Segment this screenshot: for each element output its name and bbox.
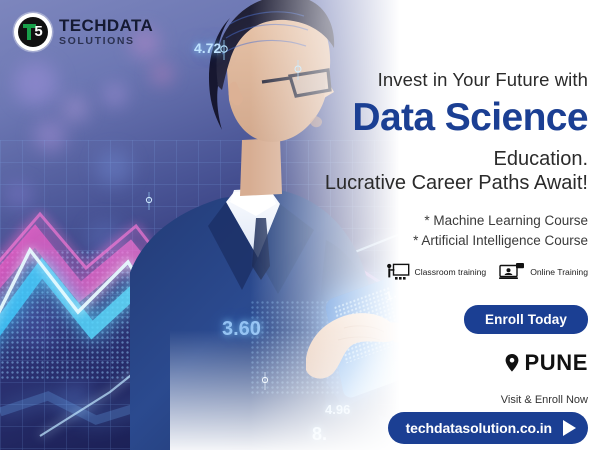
training-mode-online: Online Training	[499, 263, 588, 281]
logo-tagline: SOLUTIONS	[59, 36, 153, 47]
location-block: PUNE	[505, 350, 588, 376]
page-title: Data Science	[352, 98, 588, 137]
website-button[interactable]: techdatasolution.co.in	[388, 412, 588, 444]
logo-mark: 5	[18, 17, 48, 47]
logo-t-stem	[27, 24, 31, 40]
subtitle-line-1: Education.	[493, 148, 588, 170]
training-modes: Classroom training Online Training	[386, 263, 588, 281]
logo-name: TECHDATA	[59, 17, 153, 34]
subtitle-line-2: Lucrative Career Paths Await!	[325, 172, 588, 194]
crosshair-marker	[142, 192, 156, 210]
course-item: * Artificial Intelligence Course	[413, 231, 588, 251]
brand-logo[interactable]: 5 TECHDATA SOLUTIONS	[14, 13, 153, 51]
map-pin-icon	[505, 354, 519, 372]
promo-banner: 1.1 2.6 53 4.72 3.60 4.96 8.	[0, 0, 600, 450]
kicker-text: Invest in Your Future with	[378, 70, 588, 90]
course-list: * Machine Learning Course * Artificial I…	[413, 211, 588, 250]
visit-label: Visit & Enroll Now	[501, 394, 588, 406]
website-url: techdatasolution.co.in	[406, 420, 552, 436]
content-column: Invest in Your Future with Data Science …	[288, 0, 588, 450]
floating-number: 4.72	[194, 40, 221, 56]
classroom-training-icon	[386, 263, 410, 281]
training-mode-label: Classroom training	[415, 267, 487, 277]
location-name: PUNE	[524, 350, 588, 376]
training-mode-label: Online Training	[530, 267, 588, 277]
logo-badge: 5	[14, 13, 52, 51]
online-training-icon	[499, 263, 525, 281]
course-item: * Machine Learning Course	[413, 211, 588, 231]
enroll-today-button[interactable]: Enroll Today	[464, 305, 588, 334]
arrow-right-icon	[559, 418, 579, 438]
training-mode-classroom: Classroom training	[386, 263, 487, 281]
logo-wordmark: TECHDATA SOLUTIONS	[59, 17, 153, 47]
logo-s-letter: 5	[33, 24, 44, 40]
